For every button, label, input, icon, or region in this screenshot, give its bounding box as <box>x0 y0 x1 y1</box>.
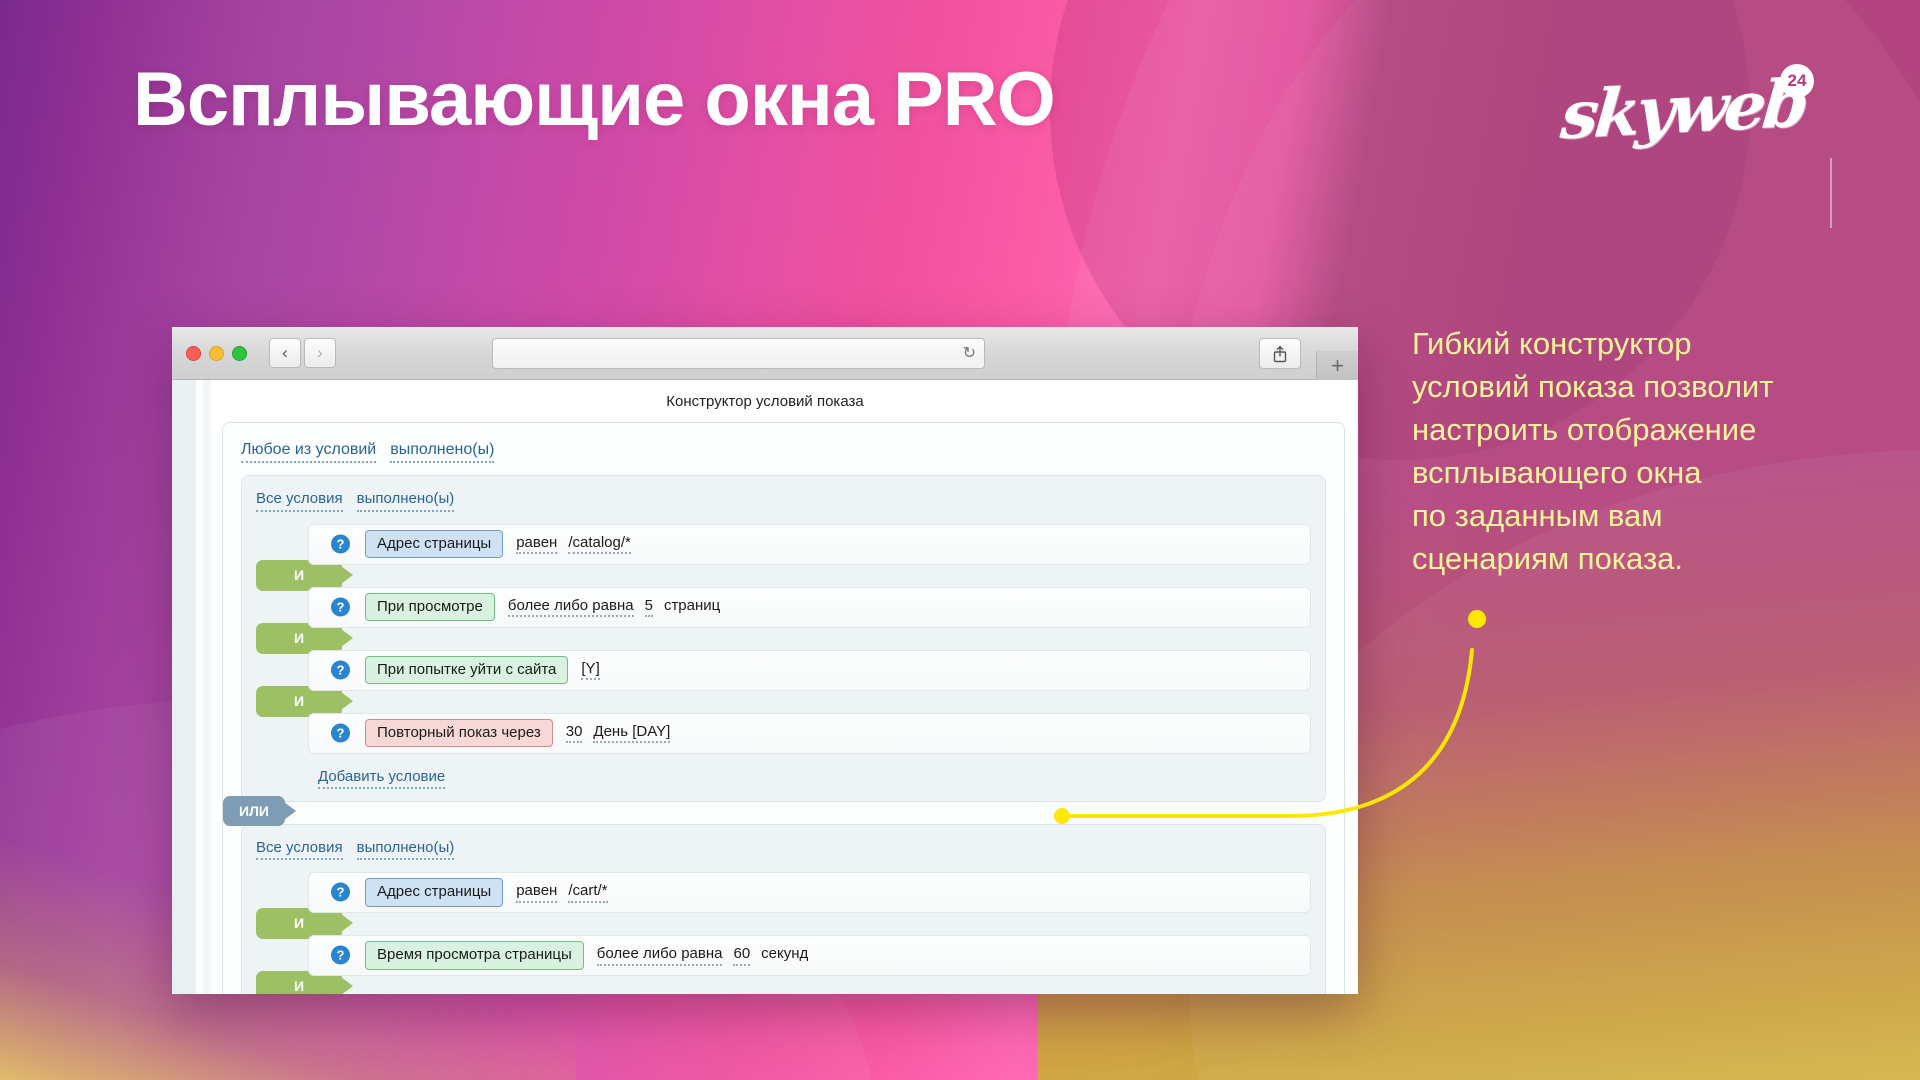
help-icon[interactable]: ? <box>331 598 350 617</box>
condition-operator-select[interactable]: равен <box>516 534 557 554</box>
condition-value-input[interactable]: 30 <box>566 723 583 743</box>
group-match-mode-select[interactable]: Все условия <box>256 839 343 860</box>
close-button[interactable] <box>186 346 201 361</box>
condition-row: ? Повторный показ через 30 День [DAY] <box>308 713 1311 754</box>
caption-line: настроить отображение <box>1412 408 1872 451</box>
or-connector-slot: ИЛИ <box>241 802 1326 820</box>
condition-type-select[interactable]: Адрес страницы <box>365 878 503 907</box>
reload-icon[interactable]: ↻ <box>963 346 976 362</box>
outer-match-state-select[interactable]: выполнено(ы) <box>390 441 494 463</box>
window-controls[interactable] <box>186 346 247 361</box>
minimize-button[interactable] <box>209 346 224 361</box>
forward-button[interactable]: › <box>304 338 336 368</box>
condition-values: более либо равна 60 секунд <box>597 945 809 965</box>
condition-type-select[interactable]: Время просмотра страницы <box>365 941 584 970</box>
page-title: Всплывающие окна PRO <box>133 62 1055 138</box>
condition-value-input[interactable]: 5 <box>645 597 653 617</box>
outer-match-mode-select[interactable]: Любое из условий <box>241 441 376 463</box>
feature-caption: Гибкий конструктор условий показа позвол… <box>1412 322 1872 580</box>
condition-group: Все условия выполнено(ы) ? Адрес страниц… <box>241 475 1326 801</box>
share-icon[interactable] <box>1259 338 1301 369</box>
condition-type-select[interactable]: Повторный показ через <box>365 719 553 748</box>
page-rail-inner <box>203 380 211 994</box>
and-connector-slot: И <box>256 976 1311 994</box>
browser-titlebar: ‹ › ↻ + <box>172 327 1358 380</box>
condition-builder: Любое из условий выполнено(ы) Все услови… <box>222 422 1345 994</box>
help-icon[interactable]: ? <box>331 535 350 554</box>
condition-row: ? При просмотре более либо равна 5 стран… <box>308 587 1311 628</box>
caption-line: Гибкий конструктор <box>1412 322 1872 365</box>
condition-row: ? При попытке уйти с сайта [Y] <box>308 650 1311 691</box>
help-icon[interactable]: ? <box>331 661 350 680</box>
condition-unit-label: страниц <box>664 597 720 615</box>
outer-match-row: Любое из условий выполнено(ы) <box>241 441 1326 463</box>
group-match-mode-select[interactable]: Все условия <box>256 490 343 511</box>
or-connector: ИЛИ <box>223 796 285 826</box>
browser-viewport: Конструктор условий показа Любое из усло… <box>172 380 1358 994</box>
condition-list: ? Адрес страницы равен /catalog/* И ? <box>256 524 1311 754</box>
condition-operator-select[interactable]: равен <box>516 882 557 902</box>
condition-value-input[interactable]: /cart/* <box>568 882 607 902</box>
caption-line: по заданным вам <box>1412 494 1872 537</box>
document-title: Конструктор условий показа <box>172 380 1358 410</box>
group-match-row: Все условия выполнено(ы) <box>256 839 1311 860</box>
condition-type-select[interactable]: При просмотре <box>365 593 495 622</box>
caption-line: сценариям показа. <box>1412 537 1872 580</box>
condition-values: [Y] <box>581 660 599 680</box>
help-icon[interactable]: ? <box>331 946 350 965</box>
brand-logo-wordmark: skyweb <box>1558 64 1809 155</box>
condition-row: ? Время просмотра страницы более либо ра… <box>308 935 1311 976</box>
condition-type-select[interactable]: При попытке уйти с сайта <box>365 656 568 685</box>
back-button[interactable]: ‹ <box>269 338 301 368</box>
page-rail-outer <box>172 380 196 994</box>
condition-row: ? Адрес страницы равен /cart/* <box>308 872 1311 913</box>
add-condition-link[interactable]: Добавить условие <box>318 768 445 789</box>
condition-values: более либо равна 5 страниц <box>508 597 720 617</box>
and-connector-slot: И <box>256 913 1311 935</box>
condition-value-input[interactable]: 60 <box>733 945 750 965</box>
brand-logo: skyweb 24 <box>1562 58 1812 168</box>
navigation-buttons: ‹ › <box>269 338 336 368</box>
condition-values: равен /cart/* <box>516 882 607 902</box>
condition-values: 30 День [DAY] <box>566 723 671 743</box>
condition-operator-select[interactable]: более либо равна <box>597 945 723 965</box>
condition-operator-select[interactable]: более либо равна <box>508 597 634 617</box>
page-rail-gap-1 <box>196 380 203 994</box>
browser-window: ‹ › ↻ + Конструктор условий показа Любое… <box>172 327 1358 994</box>
address-bar[interactable]: ↻ <box>492 338 985 369</box>
condition-unit-label: секунд <box>761 945 808 963</box>
condition-value-input[interactable]: /catalog/* <box>568 534 631 554</box>
caption-line: условий показа позволит <box>1412 365 1872 408</box>
help-icon[interactable]: ? <box>331 724 350 743</box>
condition-values: равен /catalog/* <box>516 534 631 554</box>
condition-value-input[interactable]: [Y] <box>581 660 599 680</box>
and-connector-slot: И <box>256 565 1311 587</box>
zoom-button[interactable] <box>232 346 247 361</box>
page-rail-gap-2 <box>211 380 222 994</box>
help-icon[interactable]: ? <box>331 883 350 902</box>
group-match-state-select[interactable]: выполнено(ы) <box>357 839 455 860</box>
condition-row: ? Адрес страницы равен /catalog/* <box>308 524 1311 565</box>
outer-condition-group: Любое из условий выполнено(ы) Все услови… <box>222 422 1345 994</box>
condition-type-select[interactable]: Адрес страницы <box>365 530 503 559</box>
condition-unit-select[interactable]: День [DAY] <box>593 723 670 743</box>
caption-line: всплывающего окна <box>1412 451 1872 494</box>
condition-list: ? Адрес страницы равен /cart/* И ? <box>256 872 1311 994</box>
and-connector-slot: И <box>256 691 1311 713</box>
group-match-state-select[interactable]: выполнено(ы) <box>357 490 455 511</box>
group-match-row: Все условия выполнено(ы) <box>256 490 1311 511</box>
and-connector-slot: И <box>256 628 1311 650</box>
brand-logo-badge: 24 <box>1780 64 1814 98</box>
condition-group: Все условия выполнено(ы) ? Адрес страниц… <box>241 824 1326 994</box>
new-tab-button[interactable]: + <box>1316 351 1358 380</box>
brand-divider <box>1830 158 1832 228</box>
